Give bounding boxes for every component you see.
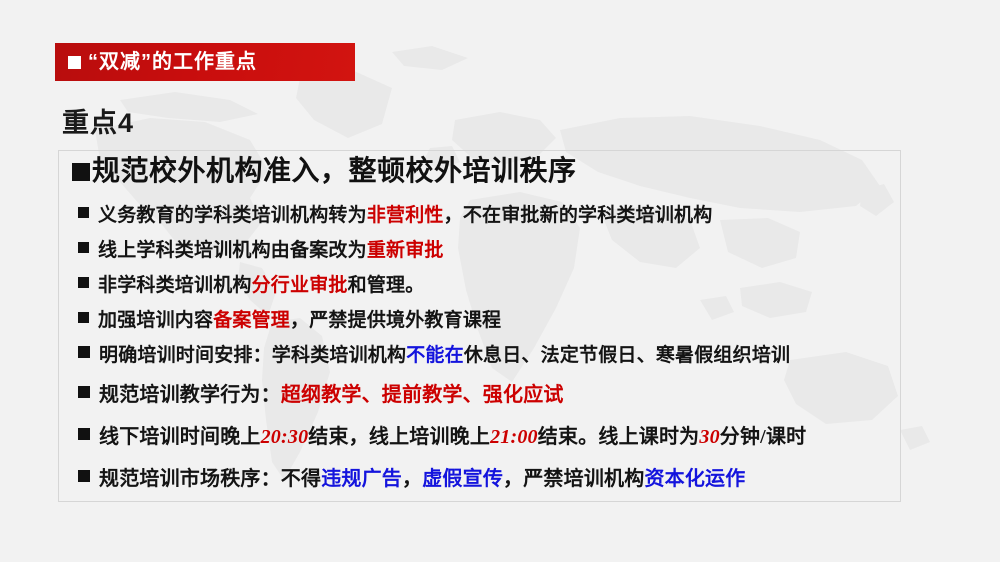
black-square-bullet-icon — [78, 312, 89, 323]
black-square-bullet-icon — [78, 242, 89, 253]
list-item: 加强培训内容备案管理，严禁提供境外教育课程 — [78, 305, 898, 340]
banner-title: “双减”的工作重点 — [88, 52, 257, 72]
white-square-bullet-icon — [68, 56, 81, 69]
list-item: 非学科类培训机构分行业审批和管理。 — [78, 270, 898, 305]
section-banner: “双减”的工作重点 — [55, 43, 355, 81]
black-square-bullet-icon — [78, 277, 89, 288]
content-box-title-text: 规范校外机构准入，整顿校外培训秩序 — [92, 157, 577, 185]
black-square-bullet-icon — [78, 470, 90, 482]
black-square-bullet-icon — [72, 163, 90, 181]
list-item-text: 规范培训市场秩序：不得违规广告，虚假宣传，严禁培训机构资本化运作 — [99, 462, 745, 491]
list-item-text: 明确培训时间安排：学科类培训机构不能在休息日、法定节假日、寒暑假组织培训 — [99, 340, 790, 367]
black-square-bullet-icon — [78, 386, 90, 398]
black-square-bullet-icon — [78, 207, 89, 218]
list-item-text: 非学科类培训机构分行业审批和管理。 — [98, 270, 424, 297]
list-item: 线下培训时间晚上20:30结束，线上培训晚上21:00结束。线上课时为30分钟/… — [78, 420, 898, 462]
page-title: 重点4 — [62, 101, 134, 140]
list-item-text: 规范培训教学行为：超纲教学、提前教学、强化应试 — [99, 378, 564, 407]
list-item: 义务教育的学科类培训机构转为非营利性，不在审批新的学科类培训机构 — [78, 200, 898, 235]
list-item: 线上学科类培训机构由备案改为重新审批 — [78, 235, 898, 270]
slide-canvas: “双减”的工作重点 重点4 规范校外机构准入，整顿校外培训秩序 义务教育的学科类… — [0, 0, 1000, 562]
content-box-title: 规范校外机构准入，整顿校外培训秩序 — [72, 157, 577, 185]
list-item-text: 线上学科类培训机构由备案改为重新审批 — [98, 235, 444, 262]
black-square-bullet-icon — [78, 428, 90, 440]
bullet-list: 义务教育的学科类培训机构转为非营利性，不在审批新的学科类培训机构 线上学科类培训… — [78, 200, 898, 502]
list-item-text: 线下培训时间晚上20:30结束，线上培训晚上21:00结束。线上课时为30分钟/… — [99, 420, 806, 449]
list-item: 明确培训时间安排：学科类培训机构不能在休息日、法定节假日、寒暑假组织培训 — [78, 340, 898, 378]
black-square-bullet-icon — [78, 346, 90, 358]
list-item-text: 加强培训内容备案管理，严禁提供境外教育课程 — [98, 305, 501, 332]
list-item: 规范培训教学行为：超纲教学、提前教学、强化应试 — [78, 378, 898, 420]
list-item: 规范培训市场秩序：不得违规广告，虚假宣传，严禁培训机构资本化运作 — [78, 462, 898, 502]
list-item-text: 义务教育的学科类培训机构转为非营利性，不在审批新的学科类培训机构 — [98, 200, 712, 227]
